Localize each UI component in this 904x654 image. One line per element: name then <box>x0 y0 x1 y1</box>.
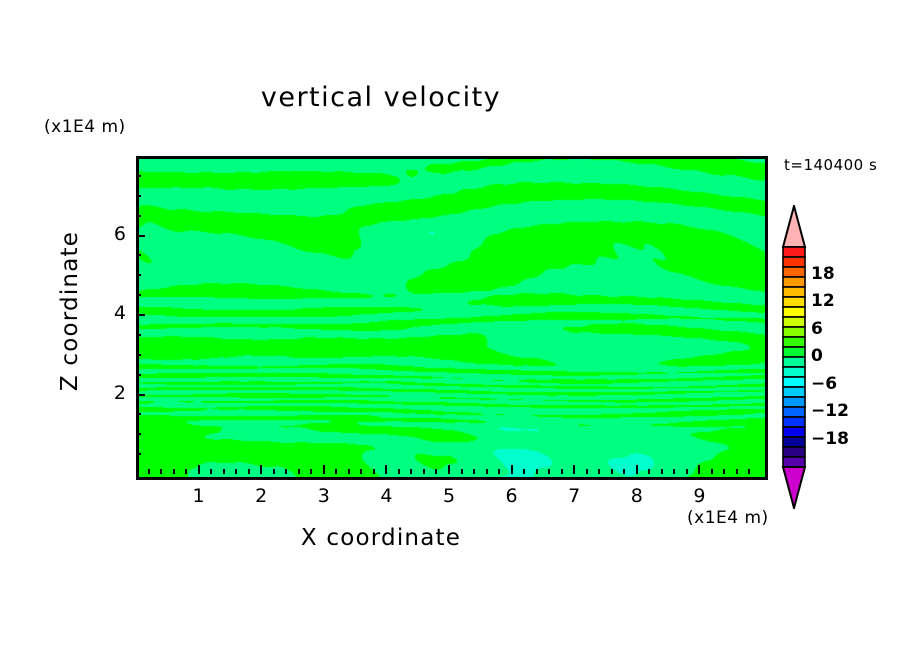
x-tick-label: 3 <box>304 485 344 507</box>
colorbar-over-arrow <box>783 206 805 247</box>
colorbar-band <box>783 347 805 357</box>
x-tick-label: 1 <box>179 485 219 507</box>
y-axis-unit-label: (x1E4 m) <box>44 117 126 137</box>
colorbar-tick-label: 18 <box>811 264 835 284</box>
colorbar-band <box>783 387 805 397</box>
x-tick-label: 9 <box>679 485 719 507</box>
colorbar-band <box>783 277 805 287</box>
colorbar-band <box>783 267 805 277</box>
colorbar-band <box>783 367 805 377</box>
colorbar-band <box>783 337 805 347</box>
x-tick-label: 6 <box>492 485 532 507</box>
colorbar-band <box>783 307 805 317</box>
colorbar-band <box>783 317 805 327</box>
colorbar-band <box>783 247 805 257</box>
colorbar-band <box>783 457 805 467</box>
colorbar-tick-label: −18 <box>811 429 849 449</box>
timestamp-annotation: t=140400 s <box>784 156 877 174</box>
colorbar-band <box>783 447 805 457</box>
colorbar-band <box>783 417 805 427</box>
colorbar-under-arrow <box>783 467 805 508</box>
contour-plot-area <box>136 156 768 480</box>
x-tick-label: 8 <box>617 485 657 507</box>
x-tick-label: 5 <box>429 485 469 507</box>
colorbar-tick-label: 0 <box>811 346 823 366</box>
colorbar-band <box>783 377 805 387</box>
x-tick-label: 2 <box>241 485 281 507</box>
colorbar-band <box>783 287 805 297</box>
colorbar-tick-label: −12 <box>811 401 849 421</box>
contour-field-canvas <box>139 159 765 477</box>
colorbar-tick-label: 6 <box>811 319 823 339</box>
colorbar-svg <box>781 205 809 509</box>
colorbar: 181260−6−12−18 <box>781 205 807 509</box>
colorbar-tick-label: −6 <box>811 374 837 394</box>
colorbar-band <box>783 327 805 337</box>
colorbar-band <box>783 427 805 437</box>
y-tick-label: 2 <box>86 382 126 404</box>
x-tick-label: 7 <box>554 485 594 507</box>
colorbar-tick-label: 12 <box>811 291 835 311</box>
colorbar-band <box>783 257 805 267</box>
colorbar-band <box>783 437 805 447</box>
y-tick-label: 6 <box>86 223 126 245</box>
colorbar-band <box>783 357 805 367</box>
colorbar-band <box>783 407 805 417</box>
colorbar-band <box>783 397 805 407</box>
y-axis-title: Z coordinate <box>57 181 83 441</box>
x-tick-label: 4 <box>366 485 406 507</box>
y-tick-label: 4 <box>86 302 126 324</box>
x-axis-title: X coordinate <box>0 525 762 551</box>
page-title: vertical velocity <box>0 82 762 113</box>
colorbar-band <box>783 297 805 307</box>
